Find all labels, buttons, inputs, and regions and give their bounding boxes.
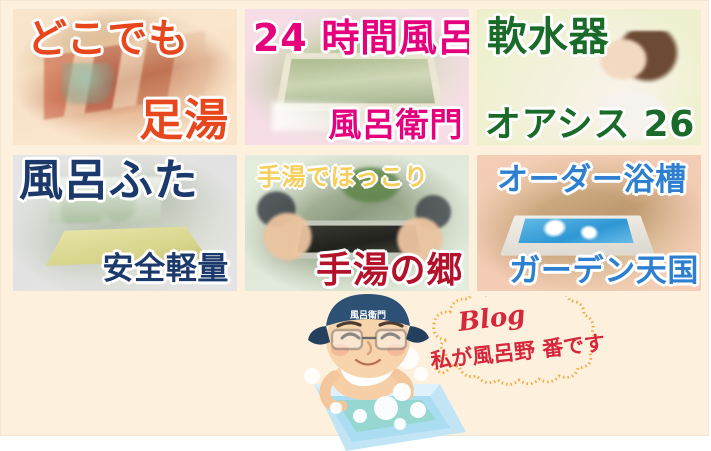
mascot-cap-text: 風呂衛門 (350, 309, 386, 321)
page-root: どこでも 足湯 24 時間風呂 風呂衛門 軟水器 オアシス 26 風呂ふた 安全… (0, 0, 711, 451)
panel-hand-bath-top-caption: 手湯でほっこり (257, 165, 428, 189)
panel-water-softener-top-caption: 軟水器 (487, 17, 609, 57)
panel-hand-bath[interactable]: 手湯でほっこり 手湯の郷 (245, 155, 469, 291)
panel-water-softener[interactable]: 軟水器 オアシス 26 (477, 9, 701, 145)
panel-24-hour-bath[interactable]: 24 時間風呂 風呂衛門 (245, 9, 469, 145)
panel-foot-bath-bottom-caption: 足湯 (139, 99, 229, 143)
panel-foot-bath[interactable]: どこでも 足湯 (13, 9, 237, 145)
panel-24-hour-bath-top-caption: 24 時間風呂 (253, 19, 469, 57)
panel-custom-bathtub[interactable]: オーダー浴槽 ガーデン天国 (477, 155, 701, 291)
panel-water-softener-bottom-caption: オアシス 26 (485, 107, 695, 143)
panel-custom-bathtub-bottom-caption: ガーデン天国 (509, 256, 699, 287)
panel-bath-lid[interactable]: 風呂ふた 安全軽量 (13, 155, 237, 291)
blog-speech-bubble[interactable]: Blog 私が風呂野 番です (416, 296, 644, 400)
cloud-bubble-icon (416, 296, 644, 400)
service-panel-grid: どこでも 足湯 24 時間風呂 風呂衛門 軟水器 オアシス 26 風呂ふた 安全… (13, 9, 701, 291)
panel-bath-lid-bottom-caption: 安全軽量 (103, 254, 229, 285)
panel-foot-bath-top-caption: どこでも (27, 19, 189, 59)
panel-bath-lid-top-caption: 風呂ふた (19, 159, 199, 203)
panel-24-hour-bath-bottom-caption: 風呂衛門 (328, 108, 463, 141)
panel-hand-bath-bottom-caption: 手湯の郷 (316, 253, 463, 289)
panel-custom-bathtub-top-caption: オーダー浴槽 (497, 165, 687, 196)
